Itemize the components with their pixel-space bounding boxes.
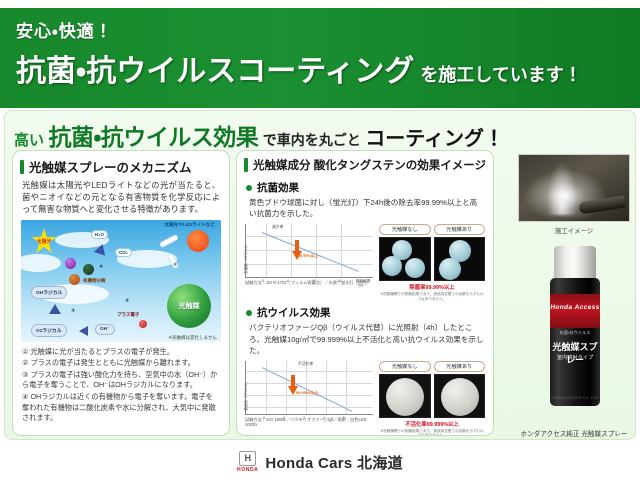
dealer-name: Honda Cars 北海道 (265, 452, 403, 473)
antiviral-photo-note: ※試験機関での試験結果であり、実使用空間での効果を示すものではありません。 (379, 429, 485, 436)
title-accent-bar (20, 160, 24, 174)
spray-photo-caption: 施工イメージ (518, 226, 630, 235)
agar-plate (386, 378, 424, 416)
top-banner: 安心・快適！ 抗菌・抗ウイルスコーティングを施工しています！ (0, 8, 640, 108)
panel-effects: 光触媒成分 酸化タングステンの効果イメージ 抗菌効果 黄色ブドウ球菌に対し〈蛍光… (236, 150, 494, 436)
honda-h-emblem-icon: H (239, 451, 256, 466)
panel-effects-title-row: 光触媒成分 酸化タングステンの効果イメージ (237, 151, 493, 176)
chart-annotation-label: 減少率 (272, 225, 283, 230)
section-antiviral-note: バクテリオファージQβ（ウイルス代替）に光照射（4h）したところ、光触媒10g/… (237, 321, 493, 356)
mechanism-diagram: 太陽光やLEDライトなど 太陽光 H₂O CO₂ 有機物分解 ④ ① ② ③ O… (21, 220, 221, 342)
spray-application-photo (518, 154, 630, 222)
molecule-icon (83, 264, 94, 275)
antiviral-result-row: 99.999%以上 不活化率 感染価（PFU/mL） 0 2 3 4 5 試験方… (237, 357, 493, 436)
chart-x-label: 照射時間（h） (356, 279, 373, 289)
diagram-step-4: ④ (99, 264, 103, 270)
electron-icon (139, 320, 147, 328)
footer-logo-bar: H HONDA Honda Cars 北海道 (0, 444, 640, 480)
bottle-body: Honda Access 抗菌・抗ウイルス 光触媒スプレー 室内噴射タイプ HO… (550, 278, 600, 406)
bottle-footer-text: HONDA ACCESS CO.,LTD. (550, 396, 600, 400)
plaque-photo-with (434, 374, 486, 418)
bottle-type: 室内噴射タイプ (550, 354, 600, 361)
product-bottle: Honda Access 抗菌・抗ウイルス 光触媒スプレー 室内噴射タイプ HO… (540, 246, 610, 422)
photo-pair (379, 237, 485, 281)
chart-x-tick: 5 (343, 416, 345, 420)
spray-nozzle (578, 195, 625, 214)
trend-line (262, 232, 359, 272)
arrow-left-icon (79, 326, 88, 336)
chart-annotation-reduction: 99.99%以上 (298, 254, 318, 259)
diagram-light-source-label: 太陽光やLEDライトなど (164, 222, 215, 228)
chart-y-label: 生菌数（CFU/mL） (244, 242, 249, 273)
arrow-up-icon (94, 242, 109, 255)
bottle-brand: Honda Access (550, 304, 600, 311)
chart-x-tick: 0 (263, 416, 265, 420)
antibacterial-chart-caption: 試験方法：JIS R 1702（フィルム密着法）／光源：蛍光灯（白色） (245, 280, 373, 285)
molecule-icon (65, 258, 76, 269)
section-antiviral-label: 抗ウイルス効果 (257, 305, 331, 320)
diagram-step-1: ① (173, 262, 177, 268)
sun-label: 太陽光 (36, 238, 51, 245)
sun-icon: 太陽光 (31, 228, 57, 254)
chart-x-tick: 6 (287, 279, 289, 283)
mechanism-step: ① 光触媒に光が当たるとプラスの電子が発生。 (22, 347, 220, 358)
advertisement-page: 安心・快適！ 抗菌・抗ウイルスコーティングを施工しています！ 高い 抗菌・抗ウイ… (0, 0, 640, 480)
petri-dish (405, 258, 425, 278)
photo-tab-row: 光触媒なし 光触媒あり (379, 361, 485, 372)
led-tube-icon (159, 234, 179, 249)
tab-with-photocatalyst: 光触媒あり (434, 361, 486, 372)
diagram-step-3: ③ (71, 308, 75, 314)
photo-pair (379, 374, 485, 418)
bullet-dot-icon (246, 185, 252, 191)
agar-plate (441, 378, 479, 416)
petri-photo-without (379, 237, 431, 281)
subhead-part4: コーティング！ (365, 128, 504, 150)
chart-x-tick: 4 (323, 416, 325, 420)
pill-oh: OH⁻ (95, 324, 115, 335)
bottle-caption: ホンダアクセス純正 光触媒スプレー (512, 428, 636, 438)
petri-dish (439, 258, 461, 280)
mechanism-steps: ① 光触媒に光が当たるとプラスの電子が発生。 ② プラスの電子は発生とともに光触… (13, 342, 229, 424)
section-antibacterial-label: 抗菌効果 (257, 180, 299, 195)
banner-headline-row: 抗菌・抗ウイルスコーティングを施工しています！ (16, 46, 640, 90)
banner-tail: を施工しています！ (420, 65, 581, 85)
gridline (246, 236, 373, 237)
sub-headline: 高い 抗菌・抗ウイルス効果 で車内を丸ごと コーティング！ (14, 118, 630, 146)
gridline (246, 371, 373, 372)
banner-kicker: 安心・快適！ (16, 17, 640, 42)
subhead-part3: で車内を丸ごと (263, 132, 361, 148)
petri-dish (382, 256, 402, 276)
diagram-step-2: ② (125, 298, 129, 304)
antibacterial-result-text: 除菌率99.99%以上 (379, 283, 485, 291)
chart-x-tick: 18 (337, 279, 341, 283)
subhead-part2: 抗菌・抗ウイルス効果 (48, 124, 258, 150)
bullet-dot-icon (246, 310, 252, 316)
chart-x-tick: 12 (312, 279, 316, 283)
petri-photo-with (434, 237, 486, 281)
tab-with-photocatalyst: 光触媒あり (434, 224, 486, 235)
diagram-plus-electron-label: プラス電子 (117, 312, 139, 318)
mechanism-step: ② プラスの電子は発生とともに光触媒から離れます。 (22, 358, 220, 369)
photo-tab-row: 光触媒なし 光触媒あり (379, 224, 485, 235)
honda-logo: H HONDA (237, 451, 258, 473)
bottle-product-name: 光触媒スプレー (550, 340, 600, 366)
pill-o2-radical: O2ラジカル (31, 324, 67, 337)
photocatalyst-ball: 光触媒 (167, 284, 211, 328)
gridline (246, 264, 373, 265)
bubble-h2o: H₂O (91, 230, 108, 239)
title-accent-bar (244, 158, 248, 172)
antibacterial-chart: 99.99%以上 減少率 生菌数（CFU/mL） 0 6 12 18 照射時間（… (245, 224, 373, 285)
panel-mechanism-body: 光触媒は太陽光やLEDライトなどの光が当たると、菌やニオイなどの元となる有害物質… (13, 179, 229, 215)
bottle-cap (554, 246, 596, 280)
subhead-part1: 高い (14, 132, 44, 149)
antibacterial-photos: 光触媒なし 光触媒あり 除菌率99.99%以上 ※試験機関での試験結果であり (379, 224, 485, 302)
banner-headline: 抗菌・抗ウイルスコーティング (16, 55, 414, 88)
bottle-subtitle: 抗菌・抗ウイルス (550, 330, 600, 336)
arrow-up-icon (49, 304, 61, 314)
mechanism-step: ④ OHラジカルは近くの有機物から電子を奪います。電子を奪われた有機物は二酸化炭… (22, 392, 220, 424)
panel-mechanism-title: 光触媒スプレーのメカニズム (29, 157, 192, 176)
chart-annotation-label: 不活化率 (298, 362, 313, 367)
pill-oh-radical: OHラジカル (31, 286, 67, 299)
diagram-organic-label: 有機物分解 (83, 278, 106, 284)
tab-without-photocatalyst: 光触媒なし (379, 361, 431, 372)
bubble-co2: CO₂ (115, 248, 132, 257)
mist-effect (547, 161, 577, 215)
chart-x-tick: 0 (262, 279, 264, 283)
panel-effects-title: 光触媒成分 酸化タングステンの効果イメージ (253, 157, 486, 173)
gridline (246, 407, 373, 408)
antiviral-photos: 光触媒なし 光触媒あり 不活化率99.999%以上 ※試験機関での試験結果であり… (379, 361, 485, 436)
antibacterial-result-row: 99.99%以上 減少率 生菌数（CFU/mL） 0 6 12 18 照射時間（… (237, 220, 493, 302)
cloud-shape (21, 254, 61, 272)
panel-mechanism: 光触媒スプレーのメカニズム 光触媒は太陽光やLEDライトなどの光が当たると、菌や… (12, 150, 230, 436)
gridline (246, 383, 373, 384)
chart-plot-area: 99.99%以上 減少率 生菌数（CFU/mL） 0 6 12 18 照射時間（… (245, 224, 373, 278)
chart-plot-area: 99.999%以上 不活化率 感染価（PFU/mL） 0 2 3 4 5 (245, 361, 373, 415)
tab-without-photocatalyst: 光触媒なし (379, 224, 431, 235)
section-antibacterial-header: 抗菌効果 (237, 176, 493, 196)
molecule-icon (69, 274, 80, 285)
chart-annotation-inactivation: 99.999%以上 (296, 391, 319, 396)
chart-x-tick: 2 (283, 416, 285, 420)
plaque-photo-without (379, 374, 431, 418)
antibacterial-photo-note: ※試験機関での試験結果であり、実使用空間での効果を示すものではありません。 (379, 292, 485, 302)
section-antibacterial-note: 黄色ブドウ球菌に対し〈蛍光灯〉下24h後の除去率99.99%以上と高い抗菌力を示… (237, 196, 493, 220)
led-sun-icon (187, 230, 209, 252)
chart-y-label: 感染価（PFU/mL） (244, 379, 249, 410)
bottle-red-band (550, 294, 600, 328)
section-antiviral-header: 抗ウイルス効果 (237, 301, 493, 321)
chart-x-tick: 3 (303, 416, 305, 420)
panel-mechanism-title-row: 光触媒スプレーのメカニズム (13, 151, 229, 179)
antiviral-chart: 99.999%以上 不活化率 感染価（PFU/mL） 0 2 3 4 5 試験方… (245, 361, 373, 428)
mechanism-step: ③ プラスの電子は強い酸化力を持ち、空気中の水（OH⁻）から電子を奪うことで、O… (22, 370, 220, 392)
diagram-note: ※光触媒は変化しません (168, 335, 217, 341)
honda-wordmark: HONDA (237, 467, 258, 473)
antiviral-result-text: 不活化率99.999%以上 (379, 420, 485, 428)
